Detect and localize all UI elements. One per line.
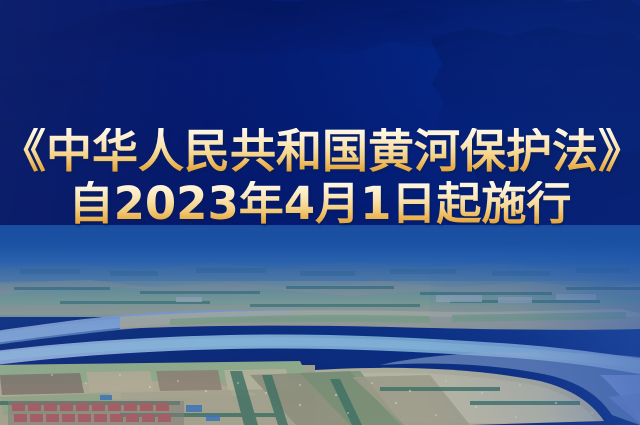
poster-canvas: 《中华人民共和国黄河保护法》 自2023年4月1日起施行 — [0, 0, 640, 425]
headline-line-1: 《中华人民共和国黄河保护法》 — [0, 128, 640, 174]
headline-block: 《中华人民共和国黄河保护法》 自2023年4月1日起施行 — [0, 128, 640, 226]
aerial-photo-yellow-river — [0, 225, 640, 425]
headline-line-2: 自2023年4月1日起施行 — [0, 181, 640, 226]
